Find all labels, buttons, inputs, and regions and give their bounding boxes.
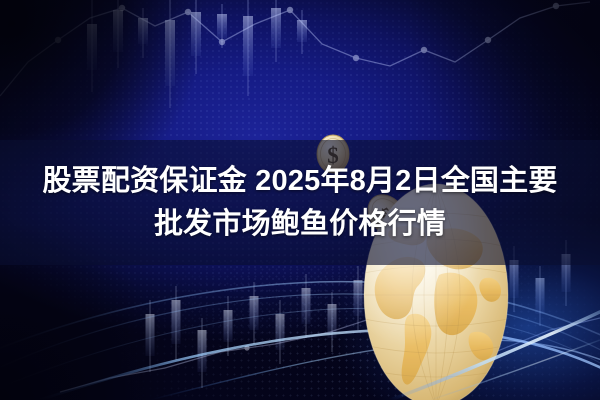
page-title: 股票配资保证金 2025年8月2日全国主要批发市场鲍鱼价格行情 xyxy=(30,160,570,246)
headline-band: 股票配资保证金 2025年8月2日全国主要批发市场鲍鱼价格行情 xyxy=(0,140,600,265)
stock-news-banner: $ $ xyxy=(0,0,600,400)
